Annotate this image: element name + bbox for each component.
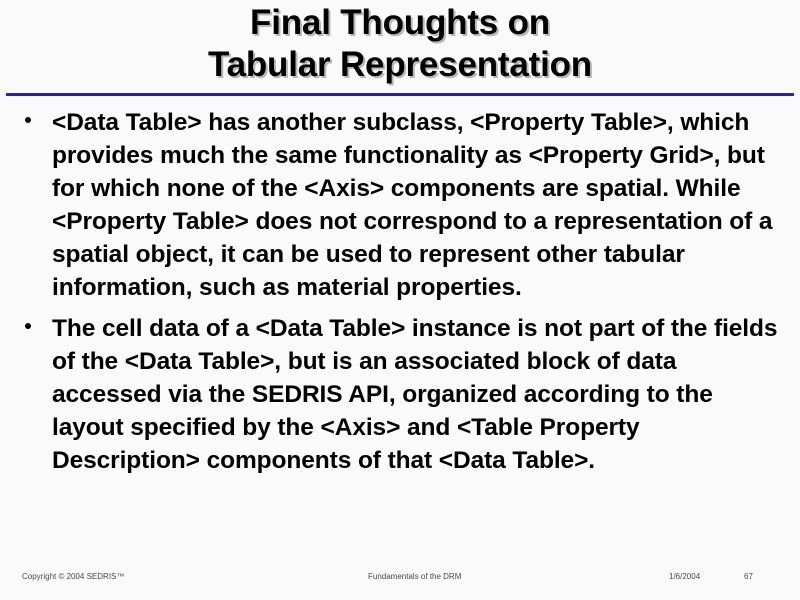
- footer-page-number: 67: [744, 572, 753, 581]
- slide-title-line-2: Tabular Representation: [0, 44, 800, 86]
- bullet-paragraph-1: <Data Table> has another subclass, <Prop…: [52, 106, 786, 304]
- slide-title-line-1: Final Thoughts on: [0, 2, 800, 44]
- slide-title: Final Thoughts on Tabular Representation: [0, 2, 800, 86]
- bullet-dot-icon: [25, 323, 31, 329]
- footer-date: 1/6/2004: [669, 572, 700, 581]
- title-divider-rule: [6, 93, 794, 96]
- presentation-slide: Final Thoughts on Tabular Representation…: [0, 0, 800, 600]
- footer-title: Fundamentals of the DRM: [368, 572, 461, 581]
- slide-body: <Data Table> has another subclass, <Prop…: [0, 106, 800, 485]
- footer-copyright: Copyright © 2004 SEDRIS™: [22, 572, 124, 581]
- bullet-dot-icon: [25, 117, 31, 123]
- list-item: <Data Table> has another subclass, <Prop…: [0, 106, 800, 304]
- list-item: The cell data of a <Data Table> instance…: [0, 312, 800, 477]
- bullet-paragraph-2: The cell data of a <Data Table> instance…: [52, 312, 786, 477]
- slide-footer: Copyright © 2004 SEDRIS™ Fundamentals of…: [0, 572, 800, 586]
